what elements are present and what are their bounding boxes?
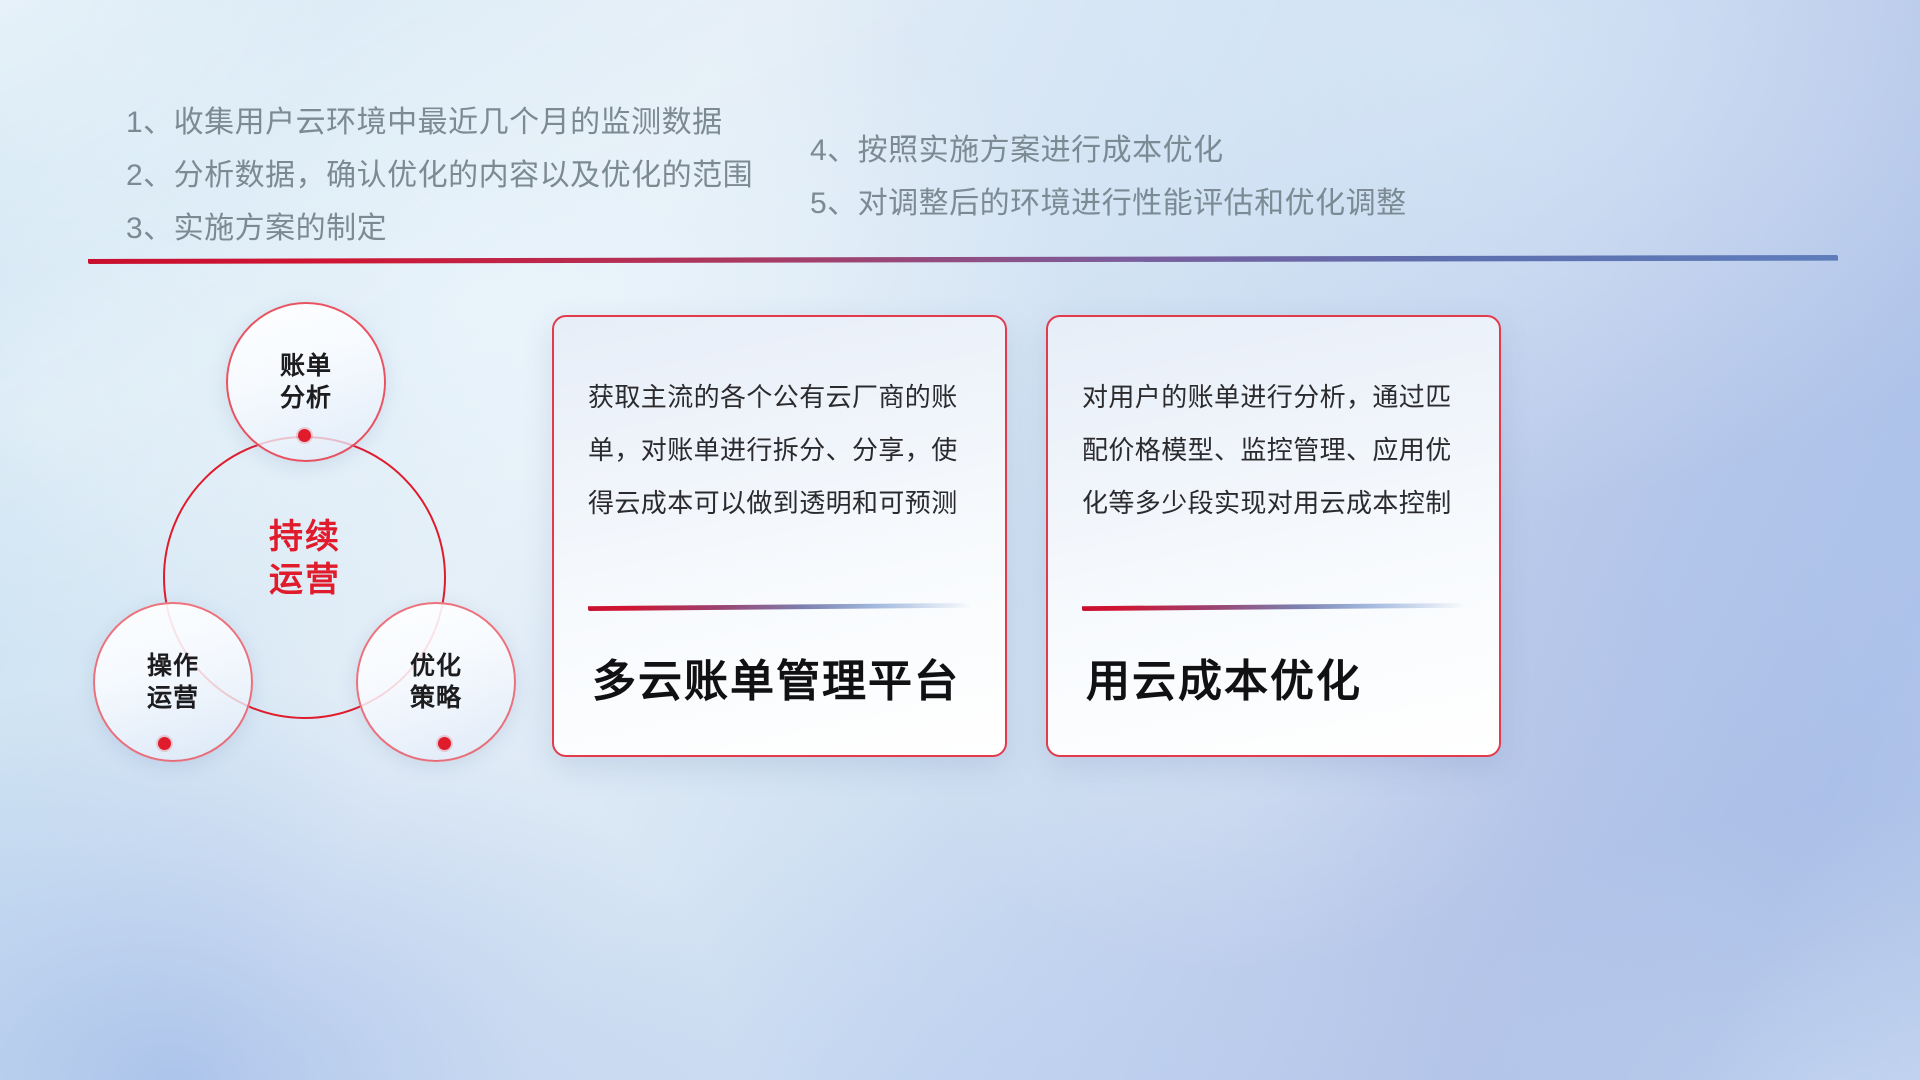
venn-center-label: 持续 运营 bbox=[241, 516, 369, 602]
venn-center-label-line1: 持续 bbox=[241, 516, 369, 559]
feature-card-1-title: 多云账单管理平台 bbox=[588, 611, 971, 755]
bullet-item-1: 1、收集用户云环境中最近几个月的监测数据 bbox=[126, 96, 753, 149]
bullet-item-5: 5、对调整后的环境进行性能评估和优化调整 bbox=[810, 177, 1407, 230]
venn-node-dot-right bbox=[438, 737, 451, 750]
venn-bubble-left-arc bbox=[93, 602, 253, 762]
bullet-item-3: 3、实施方案的制定 bbox=[126, 202, 753, 255]
venn-node-dot-top bbox=[298, 429, 311, 442]
venn-center-label-line2: 运营 bbox=[241, 559, 369, 602]
feature-card-2-rule bbox=[1082, 603, 1465, 611]
venn-diagram: 持续 运营 账单 分析 操作 运营 优化 策略 bbox=[80, 288, 550, 768]
feature-card-2-body: 对用户的账单进行分析，通过匹配价格模型、监控管理、应用优化等多少段实现对用云成本… bbox=[1082, 371, 1465, 530]
bullet-item-2: 2、分析数据，确认优化的内容以及优化的范围 bbox=[126, 149, 753, 202]
bullet-list-left: 1、收集用户云环境中最近几个月的监测数据 2、分析数据，确认优化的内容以及优化的… bbox=[126, 96, 753, 255]
bullet-list-right: 4、按照实施方案进行成本优化 5、对调整后的环境进行性能评估和优化调整 bbox=[810, 124, 1407, 230]
feature-card-1-body: 获取主流的各个公有云厂商的账单，对账单进行拆分、分享，使得云成本可以做到透明和可… bbox=[588, 371, 971, 530]
venn-node-dot-left bbox=[158, 737, 171, 750]
bullet-item-4: 4、按照实施方案进行成本优化 bbox=[810, 124, 1407, 177]
feature-card-2-title: 用云成本优化 bbox=[1082, 611, 1465, 755]
feature-card-1-rule bbox=[588, 603, 971, 611]
feature-card-billing-platform[interactable]: 获取主流的各个公有云厂商的账单，对账单进行拆分、分享，使得云成本可以做到透明和可… bbox=[552, 315, 1007, 757]
feature-card-cost-optimization[interactable]: 对用户的账单进行分析，通过匹配价格模型、监控管理、应用优化等多少段实现对用云成本… bbox=[1046, 315, 1501, 757]
venn-bubble-right-arc bbox=[356, 602, 516, 762]
